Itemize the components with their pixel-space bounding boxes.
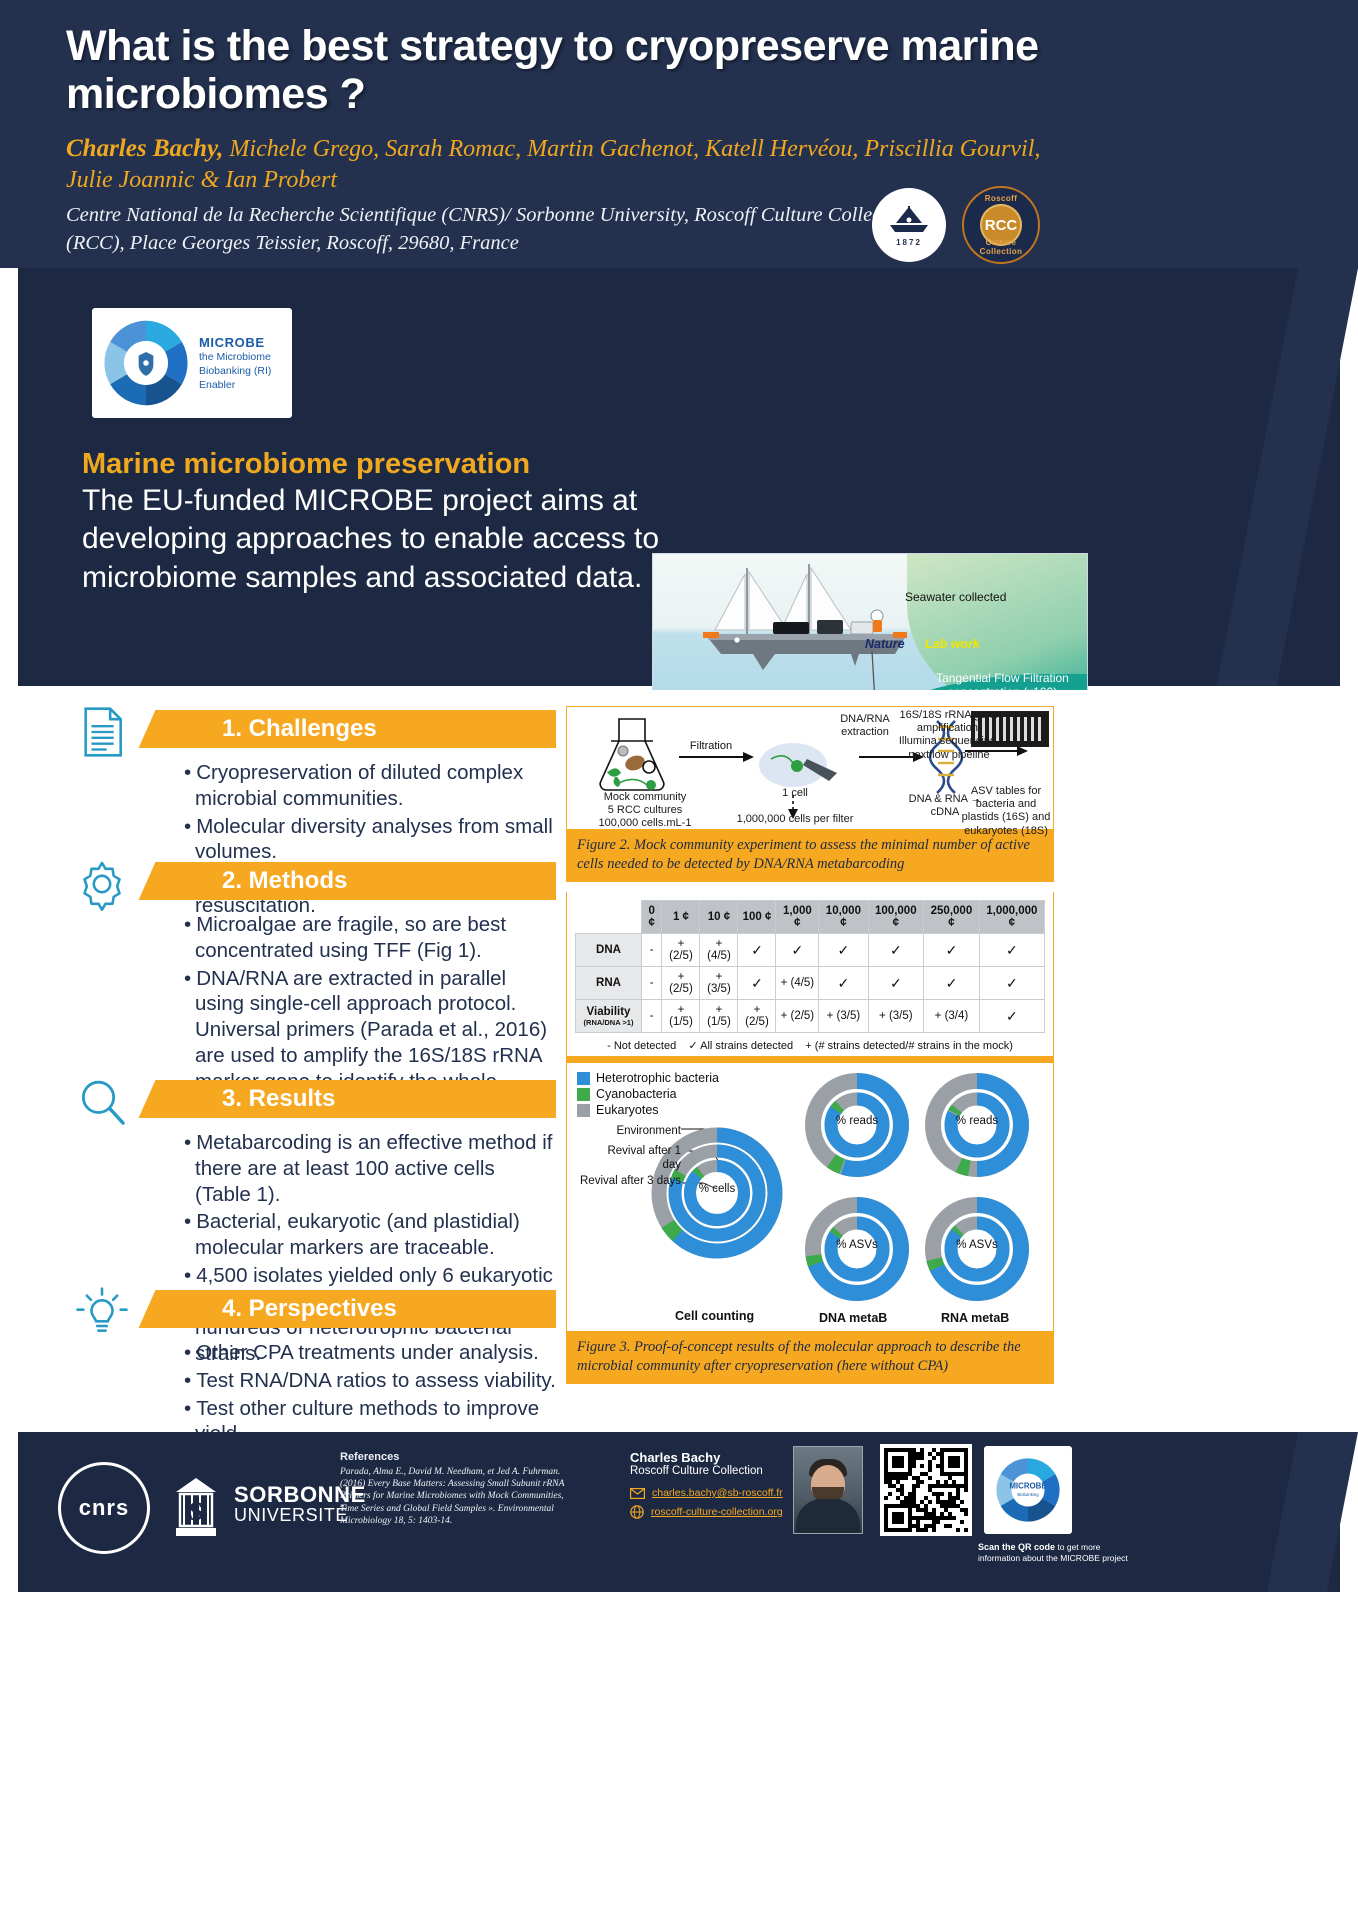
author-photo	[793, 1446, 863, 1534]
section-title-results: 3. Results	[222, 1085, 335, 1113]
cnrs-label: cnrs	[79, 1495, 129, 1521]
cell: ✓	[924, 967, 980, 1000]
magnifier-icon	[74, 1074, 130, 1130]
legend-label: Cyanobacteria	[596, 1087, 677, 1101]
row-label-viability: Viability (RNA/DNA >1)	[576, 1000, 642, 1033]
svg-text:MICROBE: MICROBE	[1009, 1482, 1046, 1491]
legend-not-detected: - Not detected	[607, 1040, 676, 1052]
th-corner	[576, 901, 642, 934]
microbe-wheel-badge-icon: MICROBE Biobanking	[992, 1454, 1064, 1526]
cnrs-logo: cnrs	[58, 1462, 150, 1554]
section-title-perspectives: 4. Perspectives	[222, 1295, 397, 1323]
cell: ✓	[924, 934, 980, 967]
cell: ✓	[819, 934, 868, 967]
cell: + (2/5)	[662, 967, 700, 1000]
section-perspectives: 4. Perspectives Other CPA treatments und…	[166, 1290, 556, 1449]
table1-legend: - Not detected ✓ All strains detected + …	[575, 1033, 1045, 1054]
legend-entry: Eukaryotes	[577, 1103, 719, 1117]
references-body: Parada, Alma E., David M. Needham, et Je…	[340, 1466, 568, 1527]
cell: ✓	[868, 934, 924, 967]
cell: ✓	[979, 967, 1044, 1000]
cell: ✓	[819, 967, 868, 1000]
figure2-cells-per-filter: 1,000,000 cells per filter	[735, 813, 855, 826]
th-col: 100,000 ¢	[868, 901, 924, 934]
table-row: Viability (RNA/DNA >1) - + (1/5) + (1/5)…	[576, 1000, 1045, 1033]
f2-flask-l2: 5 RCC cultures	[585, 804, 705, 817]
fig1-label-labwork: Lab work	[925, 637, 980, 652]
cell: + (2/5)	[662, 934, 700, 967]
cell: ✓	[738, 934, 776, 967]
th-col: 100 ¢	[738, 901, 776, 934]
th-col: 1 ¢	[662, 901, 700, 934]
cell: ✓	[979, 934, 1044, 967]
donut-center-asvs-rna: % ASVs	[953, 1239, 1001, 1252]
legend-swatch-heterotrophic	[577, 1072, 590, 1085]
figure2-asv: ASV tables for bacteria and plastids (16…	[959, 785, 1053, 838]
list-item: Bacterial, eukaryotic (and plastidial) m…	[184, 1209, 556, 1261]
table-row: DNA - + (2/5) + (4/5) ✓ ✓ ✓ ✓ ✓ ✓	[576, 934, 1045, 967]
legend-entry: Heterotrophic bacteria	[577, 1071, 719, 1085]
svg-text:Filtration: Filtration	[690, 740, 732, 752]
legend-label: Heterotrophic bacteria	[596, 1071, 719, 1085]
cell: ✓	[738, 967, 776, 1000]
microbe-logo-subtitle: the Microbiome Biobanking (RI) Enabler	[199, 351, 284, 393]
legend-swatch-cyanobacteria	[577, 1088, 590, 1101]
poster-root: What is the best strategy to cryopreserv…	[0, 0, 1358, 1920]
microbe-badge-logo: MICROBE Biobanking	[984, 1446, 1072, 1534]
qr-grid	[884, 1448, 968, 1532]
section-banner-methods: 2. Methods	[166, 862, 556, 900]
row-label-dna: DNA	[576, 934, 642, 967]
rcc-logo: Roscoff RCC Culture Collection	[962, 186, 1040, 264]
microbe-logo-title: MICROBE	[199, 334, 284, 351]
cell: -	[642, 967, 662, 1000]
gear-icon	[74, 856, 130, 912]
ring-label-revival-3days: Revival after 3 days	[573, 1175, 681, 1189]
table-header-row: 0 ¢ 1 ¢ 10 ¢ 100 ¢ 1,000 ¢ 10,000 ¢ 100,…	[576, 901, 1045, 934]
affiliation: Centre National de la Recherche Scientif…	[66, 202, 966, 257]
row-label-rna: RNA	[576, 967, 642, 1000]
section-banner-results: 3. Results	[166, 1080, 556, 1118]
ring-label-revival-1day: Revival after 1 day	[589, 1145, 681, 1173]
figure3-graphic: Heterotrophic bacteria Cyanobacteria Euk…	[567, 1063, 1053, 1331]
section-title-methods: 2. Methods	[222, 867, 347, 895]
donut-title-dna-metab: DNA metaB	[819, 1311, 887, 1325]
table-row: RNA - + (2/5) + (3/5) ✓ + (4/5) ✓ ✓ ✓ ✓	[576, 967, 1045, 1000]
cell: ✓	[979, 1000, 1044, 1033]
contact-email[interactable]: charles.bachy@sb-roscoff.fr	[652, 1487, 783, 1499]
sorbonne-logo: S SORBONNE UNIVERSITÉ	[168, 1468, 366, 1540]
donut-center-reads-dna: % reads	[833, 1115, 881, 1128]
cell: + (1/5)	[700, 1000, 738, 1033]
cell: + (3/4)	[924, 1000, 980, 1033]
list-item: Cryopreservation of diluted complex micr…	[184, 760, 556, 812]
donut-center-cells: % cells	[693, 1183, 741, 1196]
author-list: Charles Bachy, Michele Grego, Sarah Roma…	[66, 133, 1056, 196]
microbe-logo-text: MICROBE the Microbiome Biobanking (RI) E…	[199, 334, 284, 393]
figure2-graphic: Filtration	[567, 707, 1053, 829]
list-item: Microalgae are fragile, so are best conc…	[184, 912, 556, 964]
figure2-flask-label: Mock community 5 RCC cultures 100,000 ce…	[585, 791, 705, 831]
svg-text:Biobanking: Biobanking	[1017, 1492, 1039, 1497]
row-label-viability-main: Viability	[587, 1006, 631, 1018]
list-item: Other CPA treatments under analysis.	[184, 1340, 556, 1366]
cell: + (4/5)	[776, 967, 819, 1000]
figure3-caption: Figure 3. Proof-of-concept results of th…	[567, 1331, 1053, 1383]
section-banner-challenges: 1. Challenges	[166, 710, 556, 748]
legend-swatch-eukaryotes	[577, 1104, 590, 1117]
cell: ✓	[776, 934, 819, 967]
cell: + (3/5)	[819, 1000, 868, 1033]
rcc-ring-bottom: Culture Collection	[964, 238, 1038, 256]
figure2-one-cell: 1 cell	[753, 787, 837, 800]
microbe-wheel-icon	[100, 317, 192, 409]
list-item: Test RNA/DNA ratios to assess viability.	[184, 1368, 556, 1394]
figure2-amplification: 16S/18S rRNA gene amplification, Illumin…	[897, 709, 1001, 762]
svg-text:S: S	[189, 1497, 203, 1526]
cell: -	[642, 934, 662, 967]
fig1-label-nature: Nature	[865, 637, 905, 652]
scan-bold: Scan the QR code	[978, 1542, 1055, 1552]
f2-flask-l3: 100,000 cells.mL-1	[585, 817, 705, 830]
th-col: 1,000,000 ¢	[979, 901, 1044, 934]
main-content: 1. Challenges Cryopreservation of dilute…	[0, 690, 1358, 1430]
legend-plus: + (# strains detected/# strains in the m…	[805, 1040, 1013, 1052]
microbe-project-logo: MICROBE the Microbiome Biobanking (RI) E…	[92, 308, 292, 418]
tara-logo: 1872	[872, 188, 946, 262]
cell: ✓	[868, 967, 924, 1000]
rcc-ring-top: Roscoff	[964, 194, 1038, 203]
section-title-challenges: 1. Challenges	[222, 715, 377, 743]
f2-flask-l1: Mock community	[585, 791, 705, 804]
donut-title-rna-metab: RNA metaB	[941, 1311, 1009, 1325]
cell: + (3/5)	[868, 1000, 924, 1033]
cell: + (2/5)	[776, 1000, 819, 1033]
ring-label-environment: Environment	[589, 1125, 681, 1139]
globe-icon	[630, 1505, 644, 1519]
legend-entry: Cyanobacteria	[577, 1087, 719, 1101]
figure2-panel: Filtration	[566, 706, 1054, 882]
cell: + (1/5)	[662, 1000, 700, 1033]
donut-center-reads-rna: % reads	[953, 1115, 1001, 1128]
intro-band: MICROBE the Microbiome Biobanking (RI) E…	[18, 268, 1340, 686]
cell: + (2/5)	[738, 1000, 776, 1033]
tara-year: 1872	[896, 238, 922, 247]
envelope-icon	[630, 1488, 645, 1499]
list-item: Metabarcoding is an effective method if …	[184, 1130, 556, 1207]
lead-author: Charles Bachy,	[66, 135, 223, 162]
figure3-legend: Heterotrophic bacteria Cyanobacteria Euk…	[577, 1071, 719, 1119]
th-col: 1,000 ¢	[776, 901, 819, 934]
table1: 0 ¢ 1 ¢ 10 ¢ 100 ¢ 1,000 ¢ 10,000 ¢ 100,…	[575, 900, 1045, 1033]
intro-heading: Marine microbiome preservation	[82, 448, 642, 481]
page-title: What is the best strategy to cryopreserv…	[66, 22, 1076, 118]
poster-footer: cnrs S SORBONNE UNIVERSITÉ References Pa…	[18, 1432, 1340, 1592]
references-block: References Parada, Alma E., David M. Nee…	[340, 1450, 568, 1527]
row-label-viability-sub: (RNA/DNA >1)	[578, 1018, 639, 1027]
references-title: References	[340, 1450, 568, 1464]
sorbonne-mark-icon: S	[168, 1468, 224, 1540]
cell: -	[642, 1000, 662, 1033]
donut-center-asvs-dna: % ASVs	[833, 1239, 881, 1252]
qr-code[interactable]	[880, 1444, 972, 1536]
donut-title-cell-counting: Cell counting	[675, 1309, 754, 1323]
list-item: Molecular diversity analyses from small …	[184, 814, 556, 866]
cell: + (3/5)	[700, 967, 738, 1000]
section-banner-perspectives: 4. Perspectives	[166, 1290, 556, 1328]
scan-instruction: Scan the QR code to get more information…	[978, 1542, 1138, 1564]
photo-body	[796, 1499, 860, 1533]
th-col: 10,000 ¢	[819, 901, 868, 934]
legend-all-detected: ✓ All strains detected	[688, 1040, 793, 1052]
fig1-label-seawater: Seawater collected	[905, 591, 1006, 605]
lightbulb-icon	[74, 1284, 130, 1340]
figure3-panel: Heterotrophic bacteria Cyanobacteria Euk…	[566, 1062, 1054, 1384]
sailboat-icon	[886, 203, 932, 237]
contact-website[interactable]: roscoff-culture-collection.org	[651, 1506, 783, 1518]
intro-body: The EU-funded MICROBE project aims at de…	[82, 482, 662, 597]
legend-label: Eukaryotes	[596, 1103, 659, 1117]
th-col: 250,000 ¢	[924, 901, 980, 934]
document-icon	[74, 704, 130, 760]
th-col: 10 ¢	[700, 901, 738, 934]
th-col: 0 ¢	[642, 901, 662, 934]
cell: + (4/5)	[700, 934, 738, 967]
poster-header: What is the best strategy to cryopreserv…	[0, 0, 1358, 268]
